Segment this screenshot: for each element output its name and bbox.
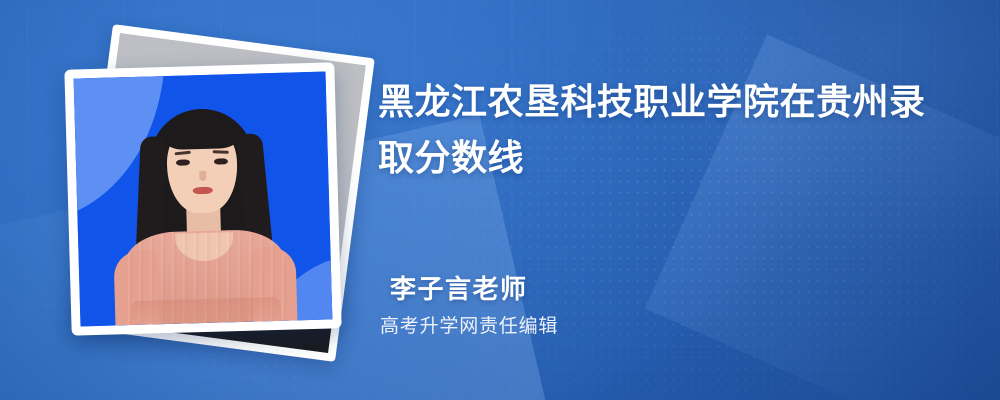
author-role: 高考升学网责任编辑 <box>380 314 950 340</box>
author-name: 李子言老师 <box>390 272 950 306</box>
photo-card-front <box>64 62 341 335</box>
portrait-eye-left <box>176 159 190 165</box>
photo-card-stack <box>40 34 350 364</box>
portrait-nose <box>199 171 206 181</box>
portrait-figure <box>107 102 299 325</box>
article-cover-banner: 黑龙江农垦科技职业学院在贵州录取分数线 李子言老师 高考升学网责任编辑 <box>0 0 1000 400</box>
portrait-eye-right <box>214 158 228 164</box>
page-title: 黑龙江农垦科技职业学院在贵州录取分数线 <box>378 74 956 186</box>
portrait-dress-waist <box>131 297 282 325</box>
banner-text-block: 黑龙江农垦科技职业学院在贵州录取分数线 李子言老师 高考升学网责任编辑 <box>378 0 978 400</box>
portrait-fringe <box>162 114 241 150</box>
portrait-mouth <box>193 187 213 195</box>
portrait-photo <box>74 72 333 327</box>
portrait-eyebrow-right <box>213 150 229 154</box>
byline: 李子言老师 高考升学网责任编辑 <box>390 272 950 340</box>
